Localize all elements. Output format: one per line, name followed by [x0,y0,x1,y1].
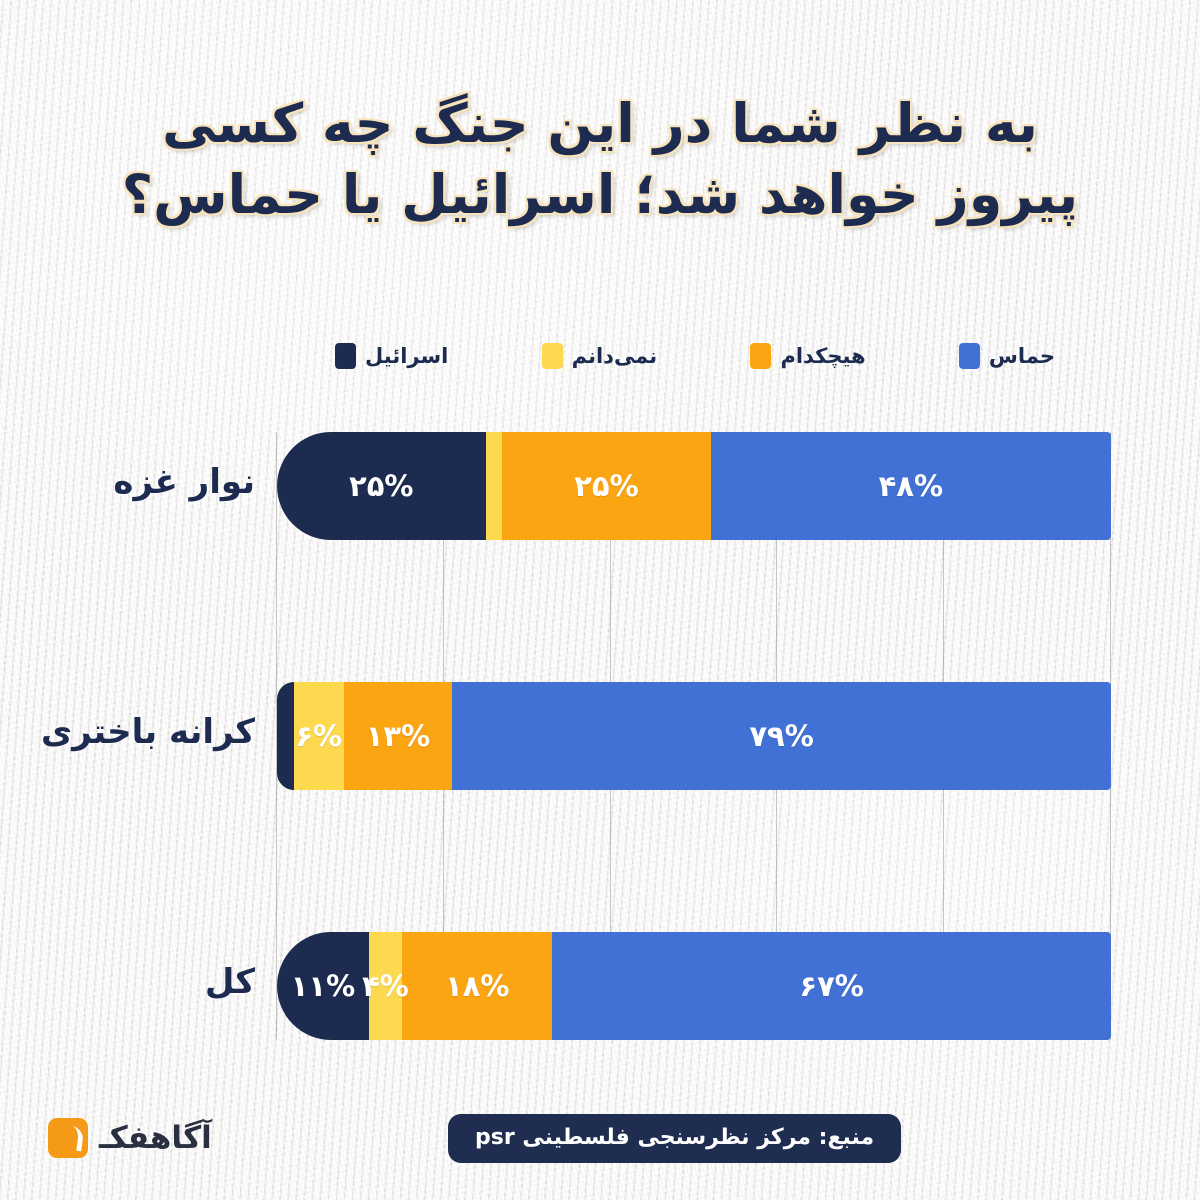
bar-segment-value: ۱۱% [291,969,355,1003]
legend-label-1: هیچکدام [780,344,865,368]
bar-segment-هیچکدام[interactable]: ۱۳% [344,682,452,790]
bar-segment-هیچکدام[interactable]: ۲۵% [502,432,711,540]
legend-label-3: اسرائیل [365,344,448,368]
bar-row[interactable]: ۶۷%۱۸%۴%۱۱% [277,932,1111,1040]
bar-segment-value: ۱۳% [366,719,430,753]
bar-segment-value: ۱۸% [445,969,509,1003]
bar-segment-اسرائیل[interactable] [277,682,294,790]
stacked-bar-chart: ۴۸%۲۵%۲۵%نوار غزه۷۹%۱۳%۶%کرانه باختری۶۷%… [277,432,1111,1040]
legend-item-1: هیچکدام [750,343,865,369]
category-label: نوار غزه [113,462,255,502]
legend-item-0: حماس [959,343,1055,369]
bar-segment-اسرائیل[interactable]: ۱۱% [277,932,369,1040]
brand-logo: آگاهفکـ [48,1118,212,1158]
bar-segment-value: ۷۹% [749,719,813,753]
bar-segment-حماس[interactable]: ۶۷% [552,932,1111,1040]
legend-swatch-israel [335,343,356,369]
bar-row[interactable]: ۷۹%۱۳%۶% [277,682,1111,790]
bar-segment-value: ۶% [295,719,342,753]
bar-segment-هیچکدام[interactable]: ۱۸% [402,932,552,1040]
source-label: منبع: مرکز نظرسنجی فلسطینی psr [475,1125,874,1150]
bar-segment-value: ۲۵% [574,469,638,503]
bar-segment-value: ۲۵% [349,469,413,503]
legend-swatch-hamas [959,343,980,369]
bar-segment-value: ۶۷% [799,969,863,1003]
category-label: کرانه باختری [41,712,255,752]
legend-swatch-neither [750,343,771,369]
bar-segment-اسرائیل[interactable]: ۲۵% [277,432,486,540]
legend-item-2: نمی‌دانم [542,343,658,369]
legend-label-2: نمی‌دانم [572,344,658,368]
bar-segment-حماس[interactable]: ۷۹% [452,682,1111,790]
bar-segment-حماس[interactable]: ۴۸% [711,432,1111,540]
source-badge: منبع: مرکز نظرسنجی فلسطینی psr [448,1114,901,1163]
brand-name-label: آگاهفکـ [99,1120,212,1156]
legend-swatch-dontknow [542,343,563,369]
page-title: به نظر شما در این جنگ چه کسی پیروز خواهد… [0,88,1200,231]
bar-segment-نمی‌دانم[interactable]: ۴% [369,932,402,1040]
bar-segment-value: ۴% [362,969,409,1003]
category-label: کل [205,962,255,1002]
legend-item-3: اسرائیل [335,343,448,369]
bar-row[interactable]: ۴۸%۲۵%۲۵% [277,432,1111,540]
legend-label-0: حماس [989,344,1055,368]
brand-mark-icon [48,1118,88,1158]
bar-segment-نمی‌دانم[interactable] [486,432,503,540]
infographic-canvas: به نظر شما در این جنگ چه کسی پیروز خواهد… [0,0,1200,1200]
title-line-1: به نظر شما در این جنگ چه کسی [0,88,1200,159]
bar-segment-value: ۴۸% [879,469,943,503]
title-line-2: پیروز خواهد شد؛ اسرائیل یا حماس؟ [0,159,1200,230]
bar-segment-نمی‌دانم[interactable]: ۶% [294,682,344,790]
chart-legend: حماسهیچکدامنمی‌دانماسرائیل [335,343,1055,369]
